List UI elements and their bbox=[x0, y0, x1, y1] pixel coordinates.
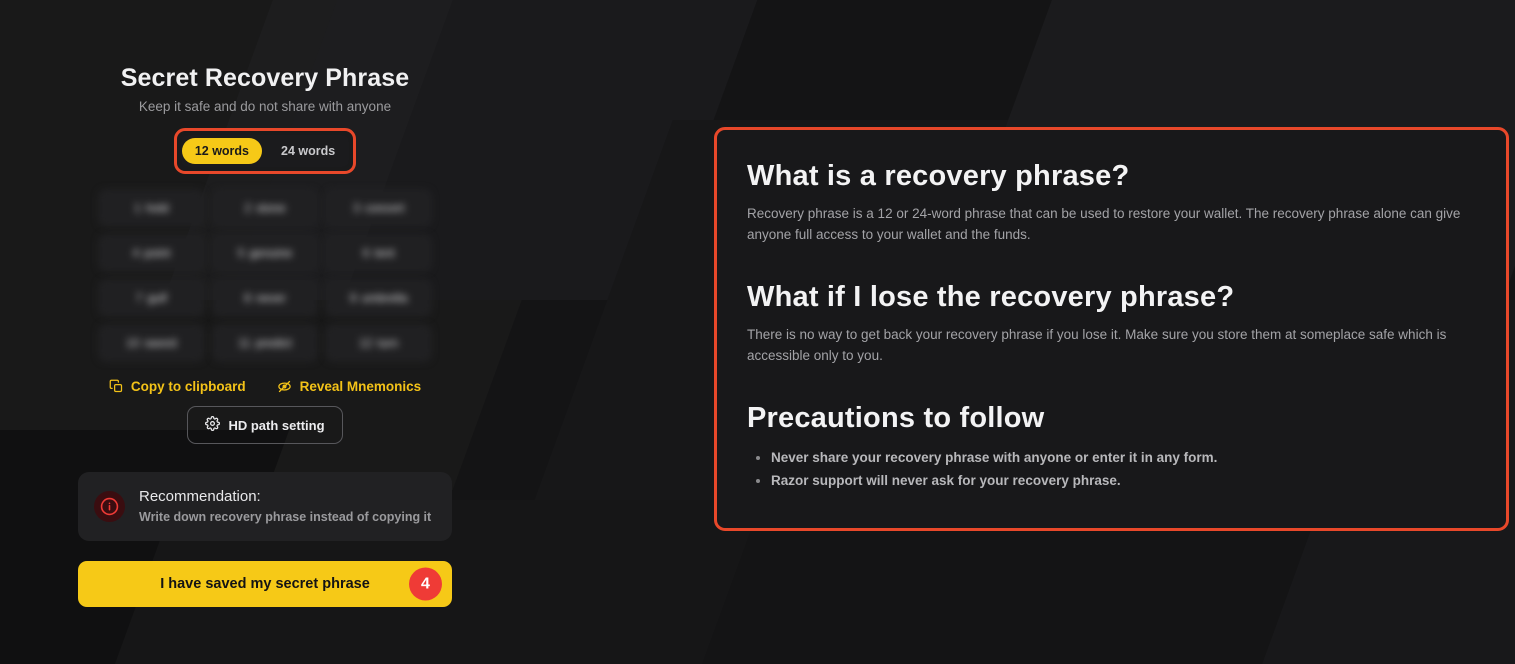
recommendation-title: Recommendation: bbox=[139, 486, 431, 507]
info-block-precautions: Precautions to follow Never share your r… bbox=[747, 400, 1476, 491]
mnemonic-word-cell: 11predict bbox=[213, 325, 318, 361]
mnemonic-word-cell: 8never bbox=[213, 280, 318, 316]
mnemonic-word-text: hold bbox=[146, 201, 169, 215]
info-body: There is no way to get back your recover… bbox=[747, 324, 1476, 366]
info-heading: Precautions to follow bbox=[747, 400, 1476, 436]
copy-to-clipboard-button[interactable]: Copy to clipboard bbox=[109, 379, 246, 394]
mnemonic-word-text: turn bbox=[377, 336, 398, 350]
info-block-lose-recovery-phrase: What if I lose the recovery phrase? Ther… bbox=[747, 279, 1476, 366]
mnemonic-actions: Copy to clipboard Reveal Mnemonics bbox=[78, 379, 452, 394]
mnemonic-word-text: genuine bbox=[249, 246, 292, 260]
info-heading: What if I lose the recovery phrase? bbox=[747, 279, 1476, 315]
reveal-mnemonics-label: Reveal Mnemonics bbox=[300, 379, 422, 394]
page-title: Secret Recovery Phrase bbox=[78, 62, 452, 94]
mnemonic-word-index: 10 bbox=[126, 336, 139, 350]
mnemonic-word-index: 3 bbox=[353, 201, 360, 215]
mnemonic-word-text: stone bbox=[256, 201, 285, 215]
mnemonic-word-cell: 1hold bbox=[99, 190, 204, 226]
mnemonic-word-text: sword bbox=[145, 336, 177, 350]
step-badge: 4 bbox=[409, 568, 442, 601]
recovery-phrase-panel: Secret Recovery Phrase Keep it safe and … bbox=[78, 62, 452, 607]
mnemonic-word-cell: 3concert bbox=[326, 190, 431, 226]
word-count-toggle-highlight: 12 words 24 words bbox=[174, 128, 356, 174]
info-panel: What is a recovery phrase? Recovery phra… bbox=[714, 127, 1509, 531]
mnemonic-word-index: 8 bbox=[244, 291, 251, 305]
info-heading: What is a recovery phrase? bbox=[747, 158, 1476, 194]
mnemonic-word-index: 12 bbox=[359, 336, 372, 350]
mnemonic-word-index: 9 bbox=[350, 291, 357, 305]
info-body: Recovery phrase is a 12 or 24-word phras… bbox=[747, 203, 1476, 245]
precautions-list: Never share your recovery phrase with an… bbox=[747, 447, 1476, 491]
info-circle-icon bbox=[94, 491, 125, 522]
eye-off-icon bbox=[276, 379, 293, 394]
mnemonic-word-cell: 12turn bbox=[326, 325, 431, 361]
page-subtitle: Keep it safe and do not share with anyon… bbox=[78, 98, 452, 116]
mnemonic-word-index: 4 bbox=[132, 246, 139, 260]
mnemonic-word-text: gulf bbox=[147, 291, 166, 305]
saved-phrase-label: I have saved my secret phrase bbox=[160, 576, 370, 592]
mnemonic-word-index: 6 bbox=[363, 246, 370, 260]
info-block-what-is-recovery-phrase: What is a recovery phrase? Recovery phra… bbox=[747, 158, 1476, 245]
mnemonic-word-text: tent bbox=[374, 246, 394, 260]
mnemonic-word-text: umbrella bbox=[361, 291, 407, 305]
hd-path-setting-label: HD path setting bbox=[228, 418, 324, 433]
app-root: Secret Recovery Phrase Keep it safe and … bbox=[0, 0, 1515, 664]
mnemonic-word-text: predict bbox=[256, 336, 292, 350]
precaution-item: Razor support will never ask for your re… bbox=[771, 470, 1476, 491]
mnemonic-word-index: 11 bbox=[238, 336, 250, 350]
reveal-mnemonics-button[interactable]: Reveal Mnemonics bbox=[276, 379, 422, 394]
toggle-option-12-words[interactable]: 12 words bbox=[182, 138, 262, 164]
word-count-toggle[interactable]: 12 words 24 words bbox=[181, 135, 349, 167]
mnemonic-word-index: 1 bbox=[134, 201, 141, 215]
recommendation-text: Write down recovery phrase instead of co… bbox=[139, 508, 431, 527]
mnemonic-word-cell: 9umbrella bbox=[326, 280, 431, 316]
copy-to-clipboard-label: Copy to clipboard bbox=[131, 379, 246, 394]
mnemonic-word-cell: 6tent bbox=[326, 235, 431, 271]
mnemonic-word-grid: 1hold2stone3concert4point5genuine6tent7g… bbox=[99, 190, 431, 361]
copy-icon bbox=[109, 379, 124, 394]
gear-icon bbox=[205, 416, 220, 434]
mnemonic-word-text: never bbox=[256, 291, 286, 305]
mnemonic-word-cell: 10sword bbox=[99, 325, 204, 361]
mnemonic-word-text: point bbox=[144, 246, 170, 260]
mnemonic-word-cell: 2stone bbox=[213, 190, 318, 226]
mnemonic-word-index: 7 bbox=[136, 291, 143, 305]
mnemonic-word-text: concert bbox=[365, 201, 404, 215]
toggle-option-24-words[interactable]: 24 words bbox=[268, 138, 348, 164]
mnemonic-word-cell: 5genuine bbox=[213, 235, 318, 271]
saved-phrase-button[interactable]: I have saved my secret phrase bbox=[78, 561, 452, 607]
mnemonic-word-cell: 4point bbox=[99, 235, 204, 271]
mnemonic-word-index: 5 bbox=[238, 246, 245, 260]
hd-path-setting-button[interactable]: HD path setting bbox=[187, 406, 342, 444]
recommendation-card: Recommendation: Write down recovery phra… bbox=[78, 472, 452, 541]
precaution-item: Never share your recovery phrase with an… bbox=[771, 447, 1476, 468]
mnemonic-word-index: 2 bbox=[244, 201, 251, 215]
mnemonic-word-cell: 7gulf bbox=[99, 280, 204, 316]
